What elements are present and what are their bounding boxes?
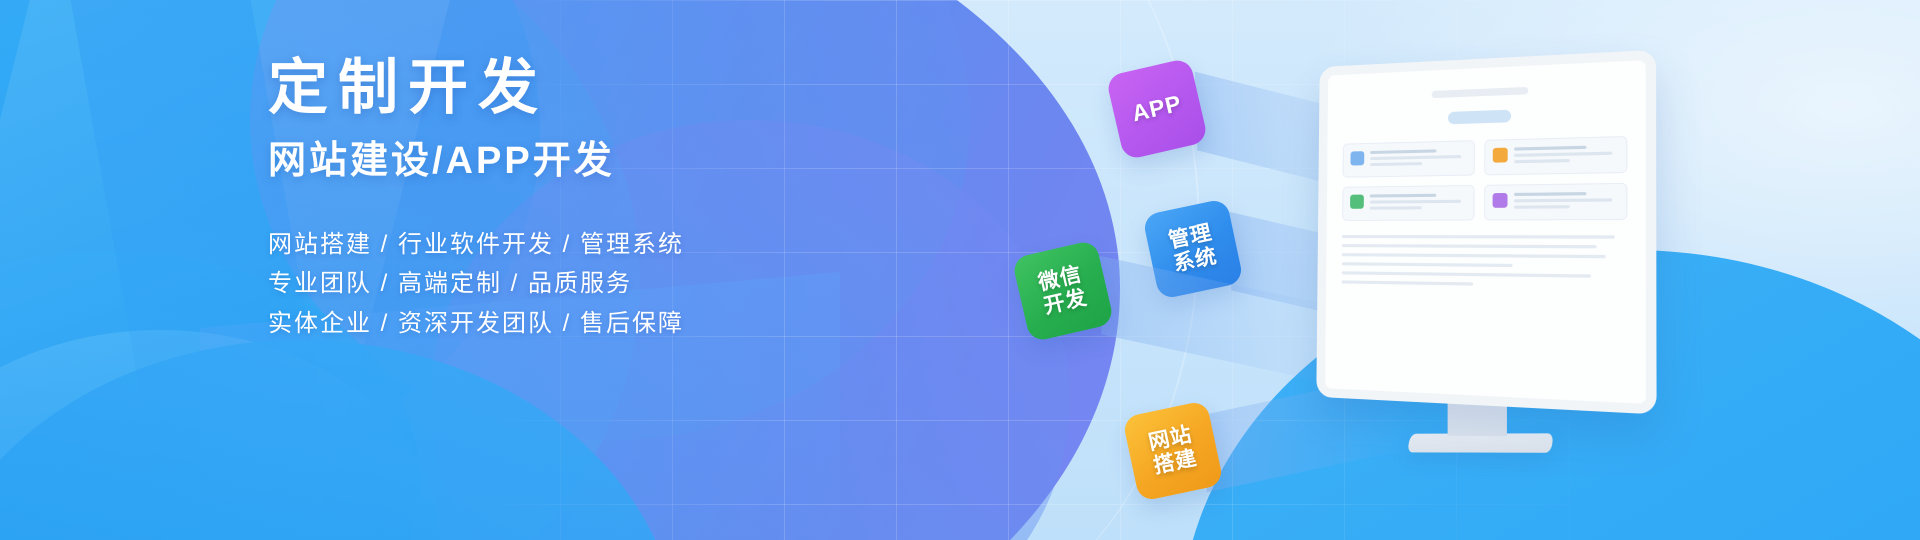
screen-paragraph-placeholder: [1342, 235, 1628, 288]
card-text-lines: [1370, 193, 1466, 212]
feature-line: 网站搭建 / 行业软件开发 / 管理系统: [268, 225, 908, 265]
card-text-lines: [1514, 145, 1619, 167]
card-icon: [1492, 148, 1507, 163]
promo-banner: 定制开发 网站建设/APP开发 网站搭建 / 行业软件开发 / 管理系统 专业团…: [0, 0, 1920, 540]
page-title: 定制开发: [268, 56, 908, 119]
badge-management-label: 管理 系统: [1167, 221, 1220, 276]
monitor-frame: [1316, 50, 1656, 415]
card-text-lines: [1513, 192, 1618, 212]
badge-app-label: APP: [1130, 91, 1185, 127]
monitor-illustration: [1318, 66, 1638, 396]
feature-line: 专业团队 / 高端定制 / 品质服务: [268, 264, 908, 304]
monitor-stand-base: [1407, 433, 1554, 452]
card-icon: [1492, 193, 1507, 208]
monitor-screen: [1325, 60, 1646, 404]
screen-banner-placeholder: [1448, 110, 1511, 125]
screen-card: [1343, 140, 1475, 178]
headline-block: 定制开发 网站建设/APP开发 网站搭建 / 行业软件开发 / 管理系统 专业团…: [268, 56, 908, 344]
screen-card: [1483, 183, 1627, 221]
screen-card-grid: [1342, 136, 1627, 221]
card-text-lines: [1370, 149, 1466, 170]
screen-title-placeholder: [1432, 87, 1529, 98]
screen-card: [1342, 185, 1474, 221]
card-icon: [1350, 151, 1364, 165]
badge-management-system[interactable]: 管理 系统: [1142, 198, 1244, 300]
badge-wechat-label: 微信 开发: [1036, 263, 1089, 319]
card-icon: [1350, 195, 1364, 209]
badge-website-label: 网站 搭建: [1147, 423, 1200, 478]
screen-card: [1484, 136, 1628, 175]
feature-line: 实体企业 / 资深开发团队 / 售后保障: [268, 304, 908, 344]
badge-website-build[interactable]: 网站 搭建: [1122, 400, 1224, 502]
page-subtitle: 网站建设/APP开发: [268, 141, 908, 183]
feature-list: 网站搭建 / 行业软件开发 / 管理系统 专业团队 / 高端定制 / 品质服务 …: [268, 225, 908, 344]
